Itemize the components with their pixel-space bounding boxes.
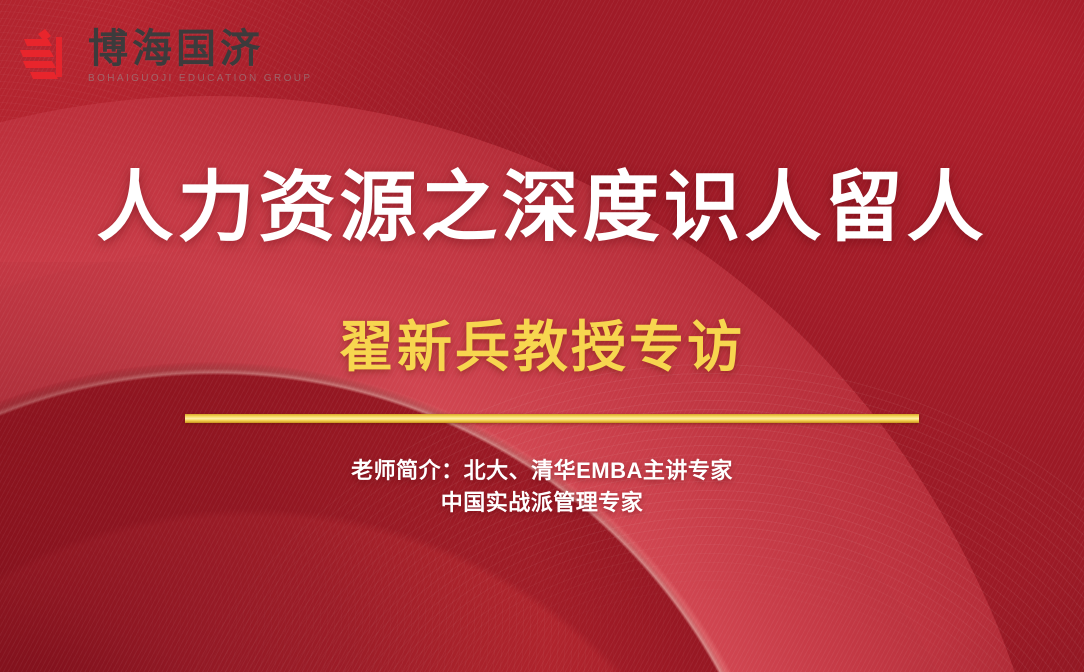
slide-content: 博海国济 BOHAIGUOJI EDUCATION GROUP 人力资源之深度识…	[0, 0, 1084, 672]
gold-divider	[185, 414, 919, 423]
bohai-guoji-emblem-icon	[18, 27, 76, 81]
brand-logo-text: 博海国济 BOHAIGUOJI EDUCATION GROUP	[88, 27, 312, 84]
presenter-note-line-2: 中国实战派管理专家	[0, 487, 1084, 519]
slide-title: 人力资源之深度识人留人	[0, 168, 1084, 249]
brand-name-cn: 博海国济	[88, 29, 312, 69]
brand-name-en: BOHAIGUOJI EDUCATION GROUP	[88, 74, 312, 84]
presenter-note-line-1: 老师简介：北大、清华EMBA主讲专家	[0, 455, 1084, 487]
title-slide: 博海国济 BOHAIGUOJI EDUCATION GROUP 人力资源之深度识…	[0, 0, 1084, 672]
brand-logo: 博海国济 BOHAIGUOJI EDUCATION GROUP	[18, 27, 312, 84]
presenter-notes: 老师简介：北大、清华EMBA主讲专家 中国实战派管理专家	[0, 455, 1084, 519]
slide-subtitle: 翟新兵教授专访	[0, 317, 1084, 378]
